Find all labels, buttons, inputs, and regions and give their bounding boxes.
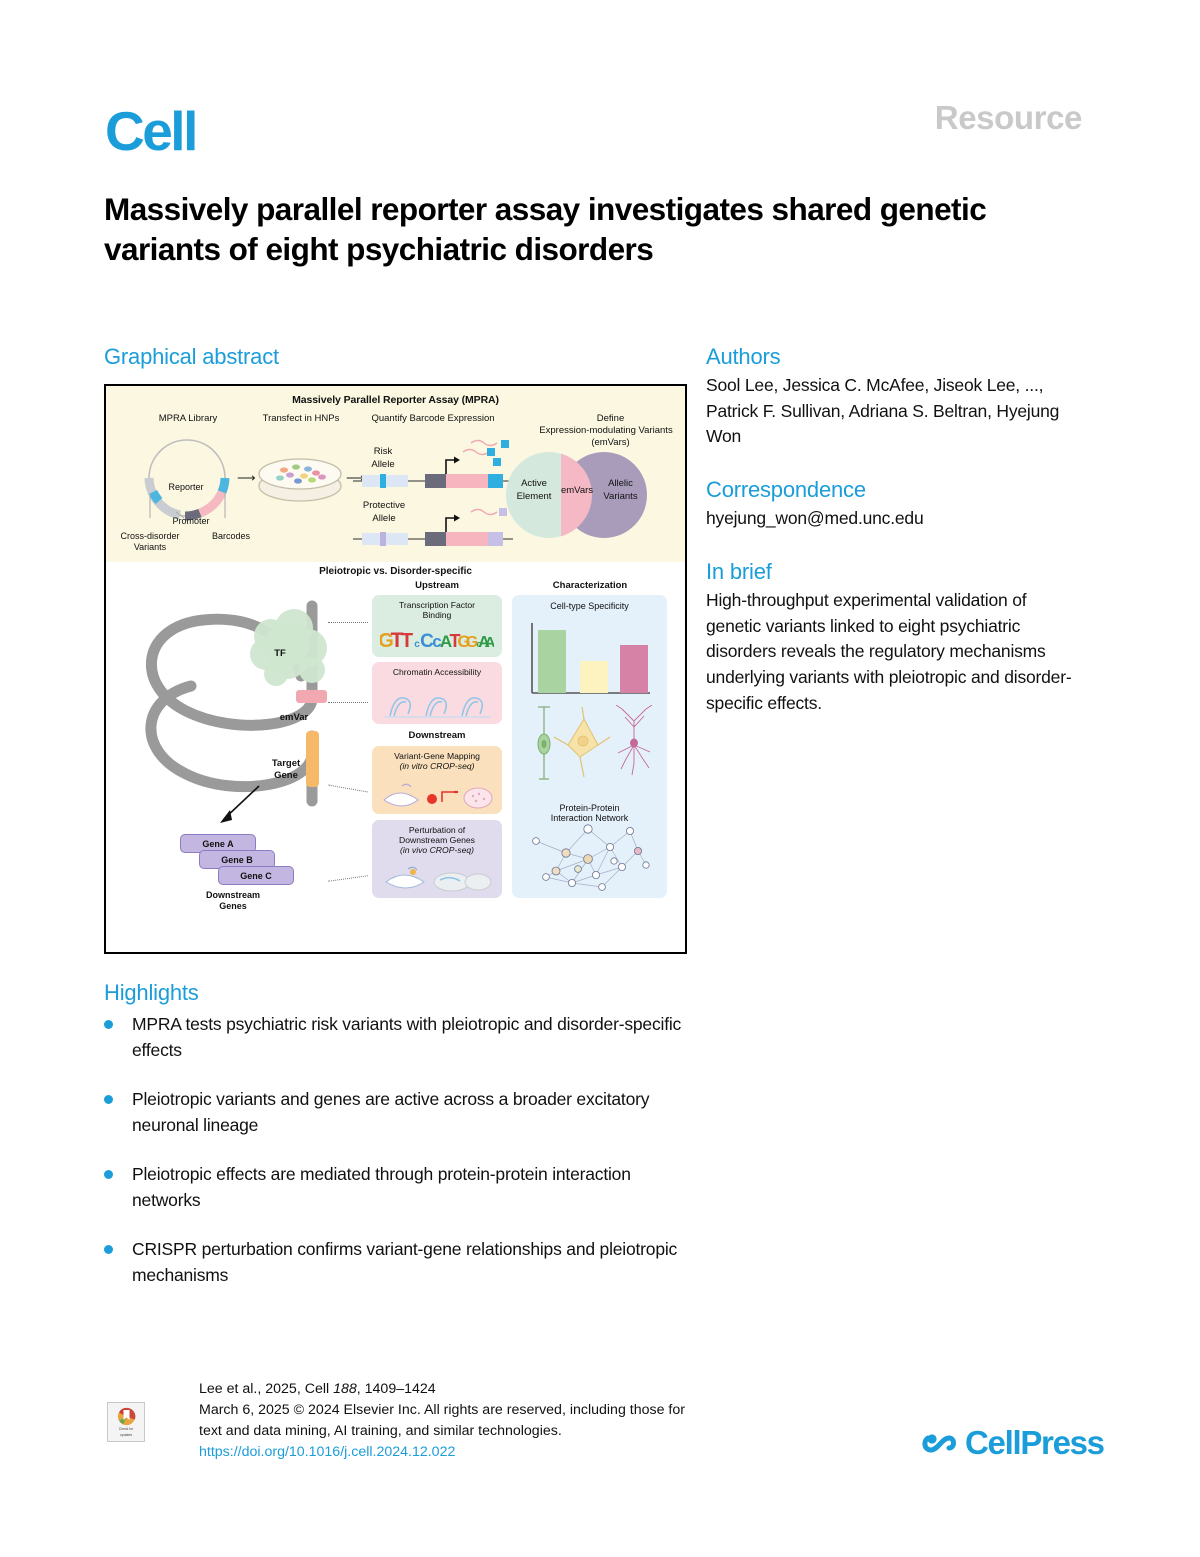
highlights-heading: Highlights xyxy=(104,980,199,1006)
pleiotropic-panel-title: Pleiotropic vs. Disorder-specific xyxy=(106,566,685,577)
card-chromatin-accessibility: Chromatin Accessibility xyxy=(372,662,502,724)
step-label-define-1: Define xyxy=(538,413,683,424)
highlight-text: CRISPR perturbation confirms variant-gen… xyxy=(132,1237,684,1288)
ppi-network-graph xyxy=(526,817,654,893)
svg-text:A: A xyxy=(485,634,494,651)
loop-label-target-1: Target xyxy=(260,758,312,769)
crossmark-label-1: Check for xyxy=(119,1427,134,1431)
list-item: Pleiotropic variants and genes are activ… xyxy=(104,1087,684,1138)
plasmid-label-reporter: Reporter xyxy=(141,482,231,493)
crossmark-label-2: updates xyxy=(120,1433,132,1437)
mpra-workflow-panel: Massively Parallel Reporter Assay (MPRA)… xyxy=(106,386,685,562)
bullet-icon xyxy=(104,1095,113,1104)
svg-text:T: T xyxy=(401,630,413,652)
highlight-text: Pleiotropic effects are mediated through… xyxy=(132,1162,684,1213)
connector-chromatin xyxy=(328,702,368,703)
correspondence-block: Correspondence hyejung_won@med.unc.edu xyxy=(706,477,1086,532)
journal-masthead: Cell xyxy=(105,104,196,159)
downstream-heading: Downstream xyxy=(372,730,502,741)
list-item: Pleiotropic effects are mediated through… xyxy=(104,1162,684,1213)
citation-prefix: Lee et al., 2025, Cell xyxy=(199,1381,333,1397)
authors-block: Authors Sool Lee, Jessica C. McAfee, Jis… xyxy=(706,344,1086,450)
arrow-icon-1: ⟶ xyxy=(237,470,256,486)
card-perturbation: Perturbation of Downstream Genes (in viv… xyxy=(372,820,502,898)
petri-dish-icon xyxy=(254,448,346,506)
card-tf-binding: Transcription Factor Binding G T T c C c… xyxy=(372,595,502,657)
plasmid-label-promoter: Promoter xyxy=(151,516,231,527)
card-pert-line2: Downstream Genes xyxy=(372,835,502,845)
step-label-quantify: Quantify Barcode Expression xyxy=(358,413,508,424)
connector-tf xyxy=(328,622,368,623)
bar-green xyxy=(538,630,566,693)
loop-label-target-2: Gene xyxy=(260,770,312,781)
authors-heading: Authors xyxy=(706,344,1086,370)
gene-box-c: Gene C xyxy=(218,866,294,885)
page-title: Massively parallel reporter assay invest… xyxy=(104,190,1009,269)
crop-seq-invivo-icon xyxy=(382,864,494,894)
crossmark-badge[interactable]: Check for updates xyxy=(107,1402,145,1442)
cellpress-mark-icon xyxy=(922,1429,956,1457)
highlight-text: Pleiotropic variants and genes are activ… xyxy=(132,1087,684,1138)
citation-block: Lee et al., 2025, Cell 188, 1409–1424 Ma… xyxy=(199,1379,839,1463)
authors-list: Sool Lee, Jessica C. McAfee, Jiseok Lee,… xyxy=(706,373,1086,450)
loop-label-emvar: emVar xyxy=(264,712,324,723)
bullet-icon xyxy=(104,1020,113,1029)
cell-logo: Cell xyxy=(105,104,196,159)
bullet-icon xyxy=(104,1245,113,1254)
card-vgm-line1: Variant-Gene Mapping xyxy=(372,751,502,761)
in-brief-heading: In brief xyxy=(706,559,1086,585)
neuron-illustrations xyxy=(522,705,658,783)
neuron-yellow-icon xyxy=(554,707,610,777)
graphical-abstract-figure: Massively Parallel Reporter Assay (MPRA)… xyxy=(104,384,687,954)
plasmid-label-barcodes: Barcodes xyxy=(200,531,262,542)
plasmid-label-variants-1: Cross-disorder xyxy=(104,531,196,542)
sequence-logo-icon: G T T c C c A T G G c A A xyxy=(380,625,494,653)
card-pert-line1: Perturbation of xyxy=(372,825,502,835)
bar-pink xyxy=(620,645,648,693)
venn-label-allelic-1: Allelic xyxy=(593,478,648,489)
card-chromatin-label: Chromatin Accessibility xyxy=(372,667,502,677)
step-label-define-2: Expression-modulating Variants xyxy=(518,425,687,436)
correspondence-email[interactable]: hyejung_won@med.unc.edu xyxy=(706,506,1086,532)
risk-allele-construct xyxy=(353,438,513,488)
in-brief-text: High-throughput experimental validation … xyxy=(706,588,1086,717)
loop-label-downstream-1: Downstream xyxy=(168,890,298,901)
nucleosome-icon xyxy=(382,690,492,720)
loop-label-tf: TF xyxy=(260,648,300,659)
protective-allele-construct xyxy=(353,496,513,546)
citation-line-1: Lee et al., 2025, Cell 188, 1409–1424 xyxy=(199,1379,839,1400)
list-item: MPRA tests psychiatric risk variants wit… xyxy=(104,1012,684,1063)
in-brief-block: In brief High-throughput experimental va… xyxy=(706,559,1086,717)
cover-page: Cell Resource Massively parallel reporte… xyxy=(0,0,1200,1557)
doi-link[interactable]: https://doi.org/10.1016/j.cell.2024.12.0… xyxy=(199,1442,839,1463)
correspondence-heading: Correspondence xyxy=(706,477,1086,503)
celltype-chart-title: Cell-type Specificity xyxy=(512,595,667,611)
upstream-heading: Upstream xyxy=(372,580,502,591)
crop-seq-invitro-icon xyxy=(380,780,494,810)
crossmark-icon xyxy=(117,1407,136,1426)
step-label-mpra-library: MPRA Library xyxy=(124,413,252,424)
cellpress-wordmark: CellPress xyxy=(965,1424,1104,1462)
citation-line-2: March 6, 2025 © 2024 Elsevier Inc. All r… xyxy=(199,1400,839,1421)
step-label-transfect: Transfect in HNPs xyxy=(240,413,362,424)
loop-label-downstream-2: Genes xyxy=(168,901,298,912)
list-item: CRISPR perturbation confirms variant-gen… xyxy=(104,1237,684,1288)
card-tf-line1: Transcription Factor xyxy=(372,600,502,610)
celltype-specificity-chart xyxy=(524,619,654,701)
venn-label-allelic-2: Variants xyxy=(589,491,652,502)
card-vgm-line2: (in vitro CROP-seq) xyxy=(372,761,502,771)
characterization-card: Cell-type Specificity xyxy=(512,595,667,898)
highlights-list: MPRA tests psychiatric risk variants wit… xyxy=(104,1012,684,1312)
graphical-abstract-heading: Graphical abstract xyxy=(104,344,279,370)
cellpress-logo: CellPress xyxy=(922,1424,1104,1462)
connector-perturbation xyxy=(328,875,368,882)
card-tf-line2: Binding xyxy=(372,610,502,620)
plasmid-label-variants-2: Variants xyxy=(104,542,196,553)
bar-yellow xyxy=(580,661,608,693)
citation-pages: , 1409–1424 xyxy=(357,1381,436,1397)
ppi-title-1: Protein-Protein xyxy=(512,803,667,813)
citation-volume: 188 xyxy=(333,1381,357,1397)
chromatin-loop-diagram xyxy=(116,586,376,876)
card-variant-gene-mapping: Variant-Gene Mapping (in vitro CROP-seq) xyxy=(372,746,502,814)
mpra-panel-title: Massively Parallel Reporter Assay (MPRA) xyxy=(106,394,685,406)
article-type-label: Resource xyxy=(935,99,1082,137)
bullet-icon xyxy=(104,1170,113,1179)
card-pert-line3: (in vivo CROP-seq) xyxy=(372,845,502,855)
highlight-text: MPRA tests psychiatric risk variants wit… xyxy=(132,1012,684,1063)
right-column: Authors Sool Lee, Jessica C. McAfee, Jis… xyxy=(706,344,1086,743)
characterization-heading: Characterization xyxy=(510,580,670,591)
step-label-define-3: (emVars) xyxy=(538,437,683,448)
citation-line-3: text and data mining, AI training, and s… xyxy=(199,1421,839,1442)
pleiotropic-panel: Pleiotropic vs. Disorder-specific xyxy=(106,562,685,952)
